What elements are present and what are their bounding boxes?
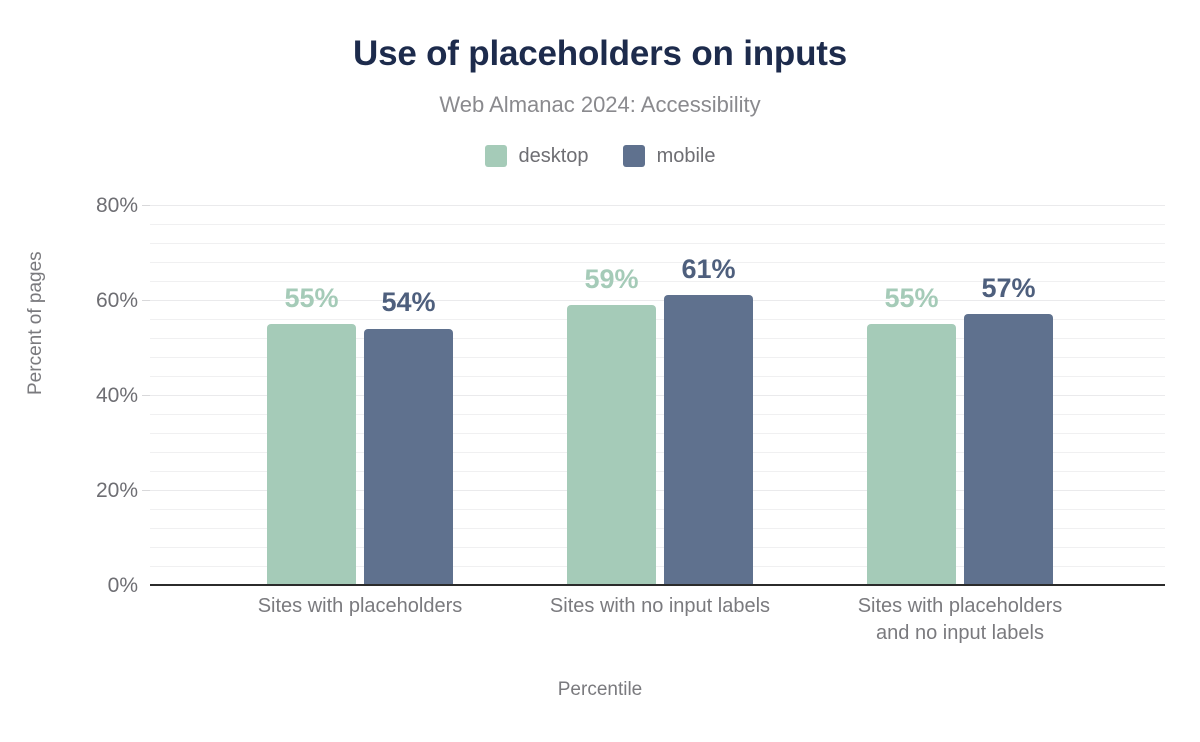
plot-area: 55% 54% 59% 61% 55% 57% <box>150 205 1165 585</box>
x-category-3-line1: Sites with placeholders <box>810 593 1110 620</box>
bar-desktop-3[interactable] <box>867 324 956 585</box>
chart-legend: desktop mobile <box>0 142 1200 170</box>
bar-label-mobile-2: 61% <box>664 254 753 284</box>
legend-item-mobile[interactable]: mobile <box>623 145 716 167</box>
x-category-2: Sites with no input labels <box>510 593 810 620</box>
bar-mobile-1[interactable] <box>364 329 453 586</box>
bar-desktop-1[interactable] <box>267 324 356 585</box>
bar-desktop-2[interactable] <box>567 305 656 585</box>
bar-label-mobile-1: 54% <box>364 287 453 317</box>
x-category-3: Sites with placeholders and no input lab… <box>810 593 1110 647</box>
chart-subtitle: Web Almanac 2024: Accessibility <box>0 91 1200 119</box>
y-tick-0: 0% <box>18 575 138 596</box>
x-axis-title: Percentile <box>0 679 1200 701</box>
y-tick-40: 40% <box>18 385 138 406</box>
y-tick-20: 20% <box>18 480 138 501</box>
gridline-76 <box>150 224 1165 225</box>
gridline-80 <box>150 205 1165 206</box>
x-category-2-line1: Sites with no input labels <box>510 593 810 620</box>
y-tick-60: 60% <box>18 290 138 311</box>
legend-item-desktop[interactable]: desktop <box>485 145 589 167</box>
bar-label-desktop-1: 55% <box>267 283 356 313</box>
bar-label-desktop-2: 59% <box>567 264 656 294</box>
legend-label-mobile: mobile <box>657 145 716 167</box>
x-category-1-line1: Sites with placeholders <box>210 593 510 620</box>
bar-mobile-2[interactable] <box>664 295 753 585</box>
y-axis-title: Percent of pages <box>26 251 46 395</box>
legend-swatch-desktop <box>485 145 507 167</box>
chart-title: Use of placeholders on inputs <box>0 33 1200 75</box>
gridline-72 <box>150 243 1165 244</box>
legend-label-desktop: desktop <box>519 145 589 167</box>
gridline-68 <box>150 262 1165 263</box>
x-category-3-line2: and no input labels <box>810 620 1110 647</box>
bar-label-desktop-3: 55% <box>867 283 956 313</box>
y-tick-80: 80% <box>18 195 138 216</box>
x-axis-line <box>150 584 1165 586</box>
x-category-1: Sites with placeholders <box>210 593 510 620</box>
bar-label-mobile-3: 57% <box>964 273 1053 303</box>
bar-mobile-3[interactable] <box>964 314 1053 585</box>
legend-swatch-mobile <box>623 145 645 167</box>
chart-container: Use of placeholders on inputs Web Almana… <box>0 0 1200 742</box>
